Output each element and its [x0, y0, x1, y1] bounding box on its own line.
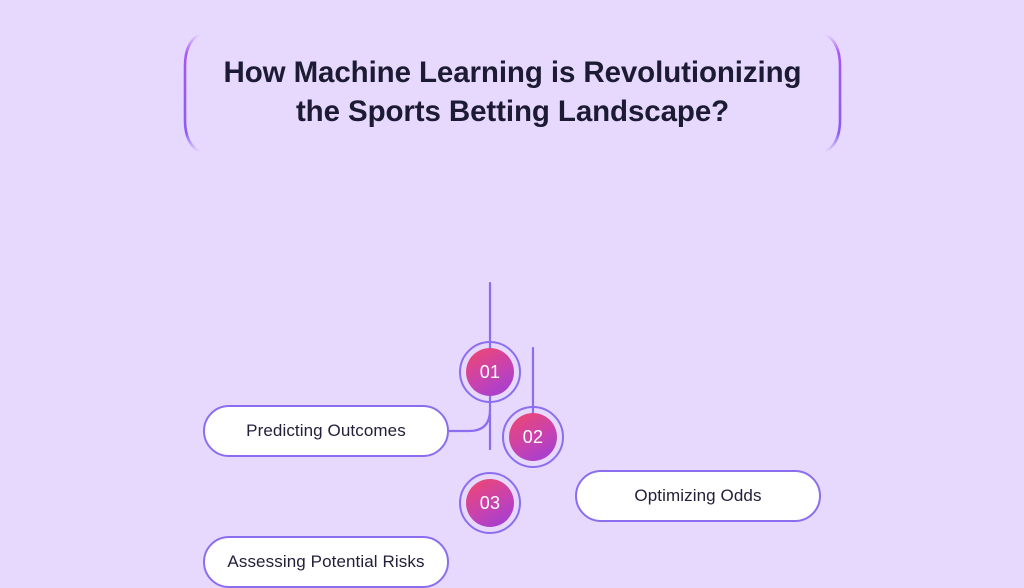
title-block: How Machine Learning is Revolutionizing …	[180, 32, 845, 154]
step-badge-03[interactable]: 03	[466, 479, 514, 527]
step-label-optimizing-odds[interactable]: Optimizing Odds	[575, 470, 821, 522]
title-line-2: the Sports Betting Landscape?	[296, 93, 729, 132]
right-bracket-icon	[819, 32, 845, 154]
steps-diagram: 01 02 03 Predicting Outcomes Optimizing …	[0, 160, 1024, 450]
step-label-01-text: Predicting Outcomes	[246, 421, 406, 441]
step-badge-02[interactable]: 02	[509, 413, 557, 461]
step-label-02-text: Optimizing Odds	[634, 486, 761, 506]
title-line-1: How Machine Learning is Revolutionizing	[224, 54, 802, 93]
step-badge-01-label: 01	[480, 362, 501, 383]
step-badge-03-label: 03	[480, 493, 501, 514]
step-label-assessing-potential-risks[interactable]: Assessing Potential Risks	[203, 536, 449, 588]
step-label-03-text: Assessing Potential Risks	[227, 552, 424, 572]
step-label-predicting-outcomes[interactable]: Predicting Outcomes	[203, 405, 449, 457]
left-bracket-icon	[180, 32, 206, 154]
infographic-canvas: How Machine Learning is Revolutionizing …	[0, 0, 1024, 467]
connector-lines	[0, 160, 1024, 450]
page-title: How Machine Learning is Revolutionizing …	[208, 32, 817, 154]
step-badge-02-label: 02	[523, 427, 544, 448]
step-badge-01[interactable]: 01	[466, 348, 514, 396]
